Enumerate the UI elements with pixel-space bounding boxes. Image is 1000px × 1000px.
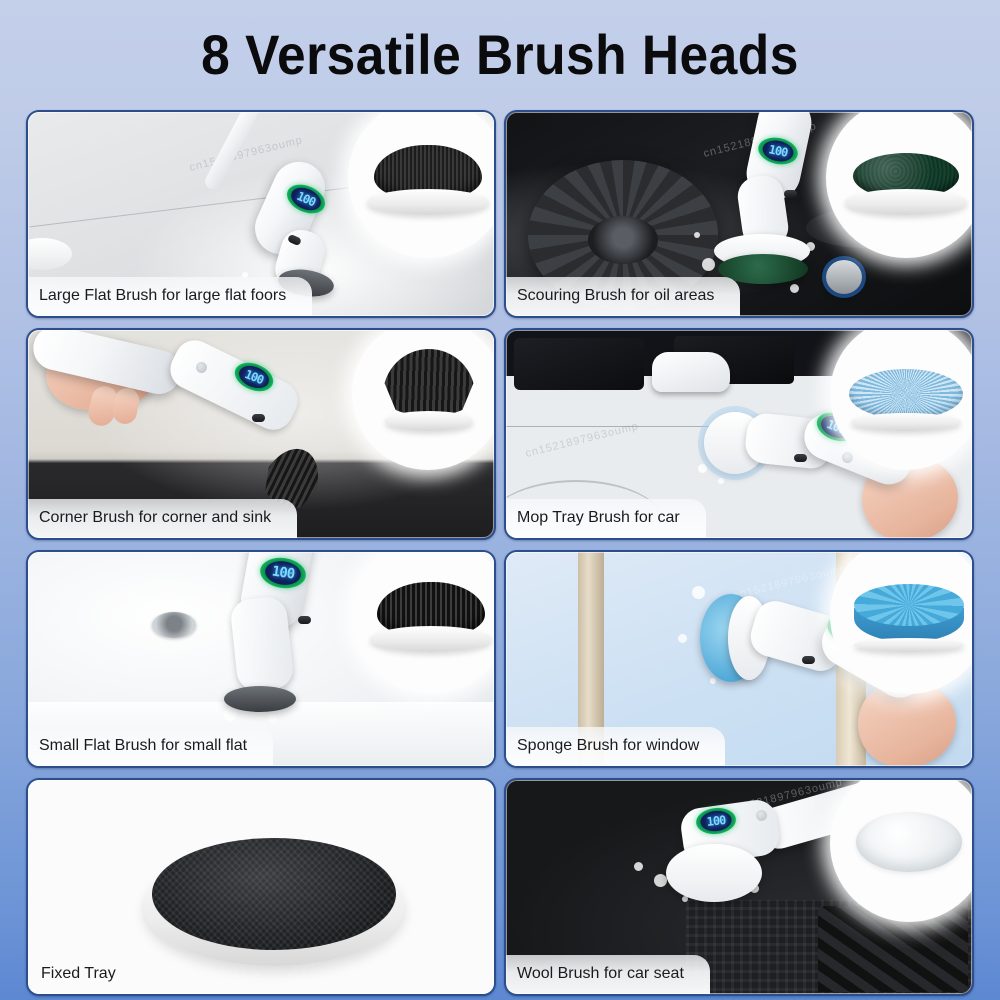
bristles [383, 349, 475, 415]
power-button[interactable] [802, 656, 815, 664]
power-button[interactable] [298, 616, 311, 624]
water-splash [692, 586, 705, 599]
brush-head-grid: cn1521897963oump 100 [26, 110, 974, 982]
burner-core [588, 216, 658, 264]
display-digits: 100 [243, 367, 266, 387]
water-splash [654, 874, 667, 887]
attached-brush-head [224, 686, 296, 712]
car-window [514, 338, 644, 390]
green-scouring-pad-icon [845, 141, 967, 215]
black-velcro-tray-disc [144, 838, 404, 966]
panel-mop-tray-brush[interactable]: cn1521897963oump 100 [504, 328, 974, 540]
brush-base-plate [370, 626, 492, 652]
display-digits: 100 [295, 189, 318, 209]
water-splash [790, 284, 799, 293]
wool-surface [856, 812, 962, 872]
water-splash [678, 634, 687, 643]
water-splash [710, 678, 716, 684]
panel-sponge-brush[interactable]: cn1521897963oump 100 [504, 550, 974, 768]
conical-corner-brush-icon [367, 357, 489, 431]
panel-wool-brush[interactable]: cn1521897963oump 100 [504, 778, 974, 996]
sponge-textured-surface [854, 584, 964, 626]
water-splash [634, 862, 643, 871]
brush-base-plate [845, 189, 967, 215]
water-splash [224, 708, 237, 721]
power-button[interactable] [794, 454, 807, 462]
device-neck [229, 595, 294, 692]
brush-base-plate [367, 189, 489, 215]
display-digits: 100 [706, 813, 726, 829]
floor-object [26, 238, 72, 270]
panel-caption: Mop Tray Brush for car [506, 499, 706, 538]
panel-corner-brush[interactable]: 100 Corner Brush for corner and sink [26, 328, 496, 540]
panel-caption: Small Flat Brush for small flat [28, 727, 273, 766]
power-button[interactable] [252, 414, 265, 422]
white-wool-pad-icon [848, 806, 970, 880]
brush-base-plate [854, 638, 964, 652]
indicator-dot [842, 452, 853, 463]
blue-microfiber-mop-icon [845, 357, 967, 431]
panel-caption: Scouring Brush for oil areas [506, 277, 740, 316]
sink-drain [152, 612, 196, 638]
page-title: 8 Versatile Brush Heads [40, 22, 960, 87]
water-splash [698, 464, 707, 473]
power-button[interactable] [784, 190, 797, 198]
small-flat-bristle-icon [370, 578, 492, 652]
blue-sponge-icon [848, 578, 970, 652]
microfiber-surface [849, 369, 963, 419]
tray-velcro-surface [152, 838, 396, 950]
brush-base-plate [385, 411, 473, 431]
water-splash [702, 258, 715, 271]
flat-bristle-brush-icon [367, 141, 489, 215]
attached-wool-pad [666, 844, 762, 902]
indicator-dot [756, 810, 767, 821]
stove-knob [826, 260, 862, 294]
panel-small-flat-brush[interactable]: 100 Small Flat Brush for small flat [26, 550, 496, 768]
panel-caption: Corner Brush for corner and sink [28, 499, 297, 538]
panel-fixed-tray[interactable]: Fixed Tray [26, 778, 496, 996]
infographic-page: 8 Versatile Brush Heads cn1521897963oump… [0, 0, 1000, 1000]
car-side-mirror [652, 352, 730, 392]
display-digits: 100 [767, 142, 788, 160]
indicator-dot [196, 362, 207, 373]
device-neck [164, 334, 305, 437]
panel-caption: Large Flat Brush for large flat foors [28, 277, 312, 316]
water-splash [718, 478, 724, 484]
panel-caption: Wool Brush for car seat [506, 955, 710, 994]
brush-base-plate [851, 413, 961, 431]
panel-scouring-brush[interactable]: cn1521897963oump 100 [504, 110, 974, 318]
panel-caption: Fixed Tray [28, 955, 142, 994]
water-splash [694, 232, 700, 238]
display-digits: 100 [271, 564, 295, 583]
water-splash [268, 714, 277, 723]
panel-caption: Sponge Brush for window [506, 727, 725, 766]
panel-large-flat-brush[interactable]: cn1521897963oump 100 [26, 110, 496, 318]
